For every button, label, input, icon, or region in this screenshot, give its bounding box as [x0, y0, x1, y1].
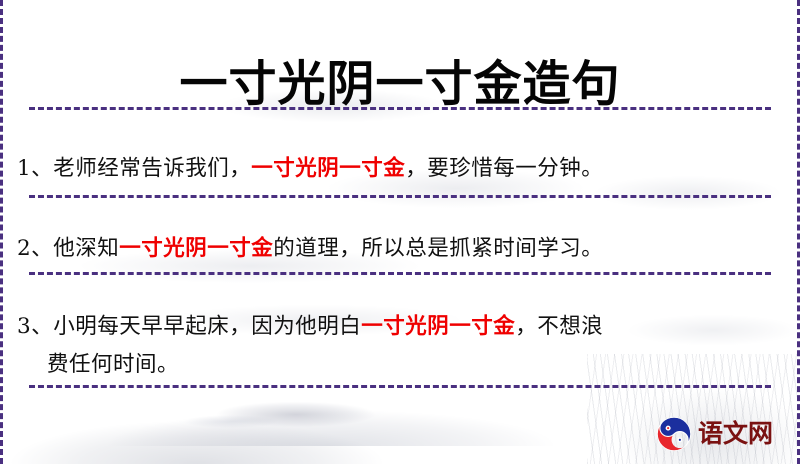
sentence-text-after-line2: 费任何时间。 [17, 346, 783, 384]
dashed-divider [29, 385, 771, 388]
sentence-text-before: 老师经常告诉我们， [53, 156, 251, 181]
site-logo-text: 语文网 [698, 420, 773, 448]
sentence-text-before: 小明每天早早起床，因为他明白 [53, 314, 361, 339]
idiom-highlight: 一寸光阴一寸金 [251, 156, 405, 181]
dashed-divider [29, 107, 771, 110]
sentence-text-after: ，要珍惜每一分钟。 [405, 156, 603, 181]
site-logo: 语文网 [656, 416, 773, 452]
sentence-text-before: 他深知 [53, 236, 119, 261]
worksheet-page: 一寸光阴一寸金造句 1、老师经常告诉我们，一寸光阴一寸金，要珍惜每一分钟。 2、… [0, 0, 800, 464]
sentence-number: 3、 [17, 314, 53, 339]
example-sentence-1: 1、老师经常告诉我们，一寸光阴一寸金，要珍惜每一分钟。 [17, 150, 783, 188]
idiom-highlight: 一寸光阴一寸金 [361, 314, 515, 339]
taiji-yinyang-icon [656, 416, 692, 452]
dashed-divider [29, 195, 771, 198]
dashed-divider [29, 272, 771, 275]
page-title: 一寸光阴一寸金造句 [3, 54, 797, 114]
sentence-number: 1、 [17, 156, 53, 181]
example-sentence-3: 3、小明每天早早起床，因为他明白一寸光阴一寸金，不想浪费任何时间。 [17, 308, 783, 384]
sentence-number: 2、 [17, 236, 53, 261]
sentence-text-after: ，不想浪 [515, 314, 603, 339]
idiom-highlight: 一寸光阴一寸金 [119, 236, 273, 261]
page-content: 一寸光阴一寸金造句 1、老师经常告诉我们，一寸光阴一寸金，要珍惜每一分钟。 2、… [3, 0, 797, 464]
sentence-text-after: 的道理，所以总是抓紧时间学习。 [273, 236, 603, 261]
example-sentence-2: 2、他深知一寸光阴一寸金的道理，所以总是抓紧时间学习。 [17, 230, 783, 268]
